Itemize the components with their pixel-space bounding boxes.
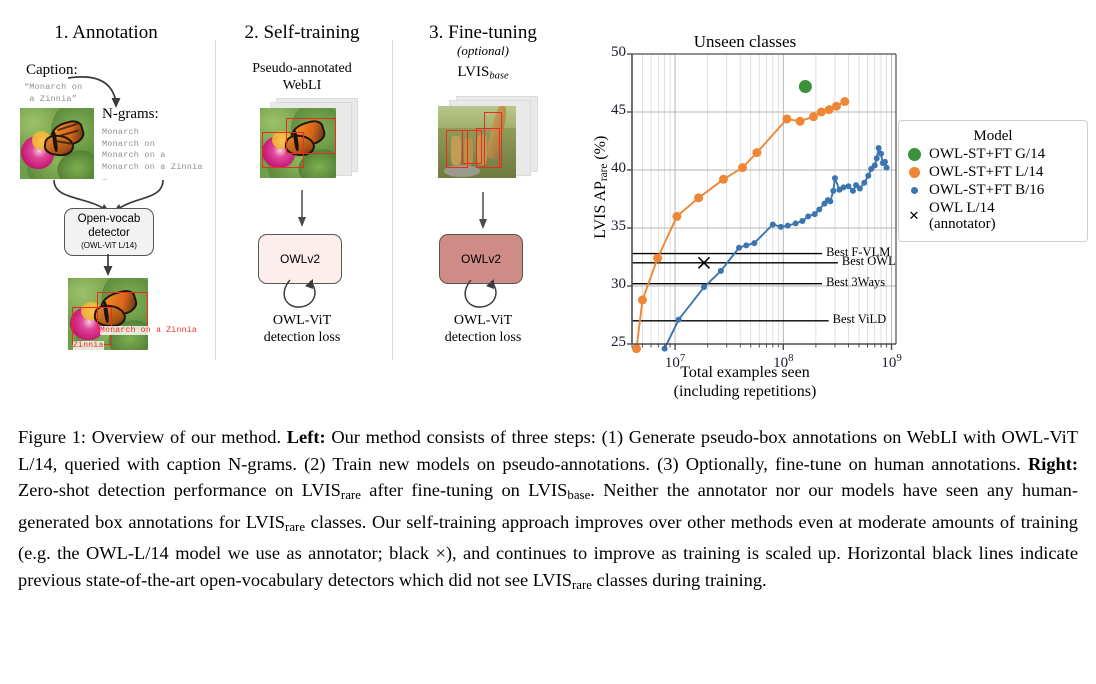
legend-dot: [911, 187, 918, 194]
loss-label-fine-tuning: OWL-ViT detection loss: [398, 312, 568, 346]
figure-caption: Figure 1: Overview of our method. Left: …: [18, 424, 1078, 598]
owlv2-node-self-training: OWLv2: [258, 234, 342, 284]
x-axis-label-line-1: Total examples seen: [590, 363, 900, 382]
panel-self-training: 2. Self-training Pseudo-annotated WebLI …: [222, 0, 382, 400]
lvis-base-main: LVIS: [457, 64, 489, 80]
pseudo-annotated-line-2: WebLI: [222, 77, 382, 94]
detector-line-1: Open-vocab: [78, 213, 141, 227]
caption-fragment: classes during training.: [592, 570, 767, 590]
legend-dot-marker: [906, 187, 922, 194]
baseline-label: Best OWL: [842, 254, 896, 269]
arrow-detector-to-output: [102, 254, 116, 278]
annotated-output: Monarch on a Zinnia Zinnia: [68, 278, 148, 350]
baseline-label: Best ViLD: [833, 312, 887, 327]
legend-rows: OWL-ST+FT G/14OWL-ST+FT L/14OWL-ST+FT B/…: [899, 145, 1087, 233]
x-tick-label: 109: [878, 352, 906, 372]
panel-self-training-title: 2. Self-training: [222, 22, 382, 44]
owlv2-label-ft: OWLv2: [461, 252, 501, 266]
legend-dot: [908, 148, 921, 161]
ngrams-text: Monarch Monarch on Monarch on a Monarch …: [102, 127, 203, 185]
pseudo-annotated-label: Pseudo-annotated WebLI: [222, 60, 382, 94]
y-tick-label: 45: [586, 102, 626, 119]
lvis-base-label: LVISbase: [398, 64, 568, 81]
box-label-monarch: Monarch on a Zinnia: [100, 326, 197, 335]
panel-divider-2: [392, 40, 393, 360]
source-image-butterfly: [20, 108, 94, 179]
detector-line-2: detector: [88, 227, 130, 241]
caption-fragment: after fine-tuning on LVIS: [361, 480, 567, 500]
y-tick-label: 35: [586, 218, 626, 235]
loss-label-self-training: OWL-ViT detection loss: [222, 312, 382, 346]
baseline-label: Best 3Ways: [826, 275, 885, 290]
legend-item[interactable]: ✕OWL L/14(annotator): [899, 199, 1087, 233]
panel-fine-tuning-subtitle: (optional): [398, 43, 568, 59]
chart-legend: Model OWL-ST+FT G/14OWL-ST+FT L/14OWL-ST…: [898, 120, 1088, 242]
x-tick-label: 107: [661, 352, 689, 372]
self-loop-arrow-fine-tuning: [461, 278, 505, 310]
y-tick-label: 30: [586, 276, 626, 293]
loss-line-1: OWL-ViT: [222, 312, 382, 329]
panel-annotation-title: 1. Annotation: [6, 22, 206, 44]
pseudo-box-b: [262, 132, 304, 168]
legend-item[interactable]: OWL-ST+FT L/14: [899, 163, 1087, 181]
y-tick-label: 40: [586, 160, 626, 177]
legend-item[interactable]: OWL-ST+FT G/14: [899, 145, 1087, 163]
legend-title: Model: [899, 124, 1087, 145]
x-axis-label: Total examples seen (including repetitio…: [590, 363, 900, 401]
legend-label: OWL-ST+FT G/14: [929, 146, 1045, 162]
panel-annotation: 1. Annotation Caption: “Monarch on a Zin…: [6, 0, 206, 400]
caption-fragment: rare: [341, 488, 361, 502]
caption-fragment: Right:: [1028, 454, 1078, 474]
legend-label: OWL L/14(annotator): [929, 200, 996, 232]
caption-fragment: rare: [572, 577, 592, 591]
y-tick-label: 50: [586, 44, 626, 61]
caption-fragment: Left:: [287, 427, 326, 447]
lvis-base-sub: base: [489, 70, 508, 81]
gt-box-4: [484, 112, 502, 168]
legend-dot-marker: [906, 148, 922, 161]
panel-fine-tuning: 3. Fine-tuning (optional) LVISbase OWLv2: [398, 0, 568, 400]
open-vocab-detector-node: Open-vocab detector (OWL-ViT L/14): [64, 208, 154, 256]
owlv2-node-fine-tuning: OWLv2: [439, 234, 523, 284]
owlv2-label: OWLv2: [280, 252, 320, 266]
webli-image-stack: [260, 98, 356, 182]
loss-line-1-ft: OWL-ViT: [398, 312, 568, 329]
loss-line-2: detection loss: [222, 329, 382, 346]
y-tick-label: 25: [586, 334, 626, 351]
panel-fine-tuning-title: 3. Fine-tuning: [398, 22, 568, 44]
box-label-zinnia: Zinnia: [73, 341, 104, 350]
legend-dot-marker: [906, 167, 922, 178]
legend-x-marker: ✕: [906, 208, 922, 224]
detector-line-3: (OWL-ViT L/14): [81, 240, 137, 251]
arrow-data-to-model-ft: [477, 192, 491, 232]
figure-1: 1. Annotation Caption: “Monarch on a Zin…: [0, 0, 1096, 684]
lvis-image-stack: [438, 96, 538, 184]
x-tick-label: 108: [769, 352, 797, 372]
legend-item[interactable]: OWL-ST+FT B/16: [899, 181, 1087, 199]
legend-label: OWL-ST+FT L/14: [929, 164, 1043, 180]
panel-divider-1: [215, 40, 216, 360]
loss-line-2-ft: detection loss: [398, 329, 568, 346]
caption-fragment: rare: [285, 519, 305, 533]
legend-dot: [909, 167, 920, 178]
pseudo-annotated-line-1: Pseudo-annotated: [222, 60, 382, 77]
legend-label: OWL-ST+FT B/16: [929, 182, 1044, 198]
caption-fragment: Zero-shot detection performance on LVIS: [18, 480, 341, 500]
caption-fragment: Figure 1: Overview of our method.: [18, 427, 287, 447]
caption-fragment: base: [567, 488, 590, 502]
arrow-data-to-model: [296, 190, 310, 230]
x-axis-label-line-2: (including repetitions): [590, 382, 900, 401]
scatter-chart: Unseen classes LVIS APrare (%) Total exa…: [580, 28, 1096, 398]
self-loop-arrow-self-training: [280, 278, 324, 310]
